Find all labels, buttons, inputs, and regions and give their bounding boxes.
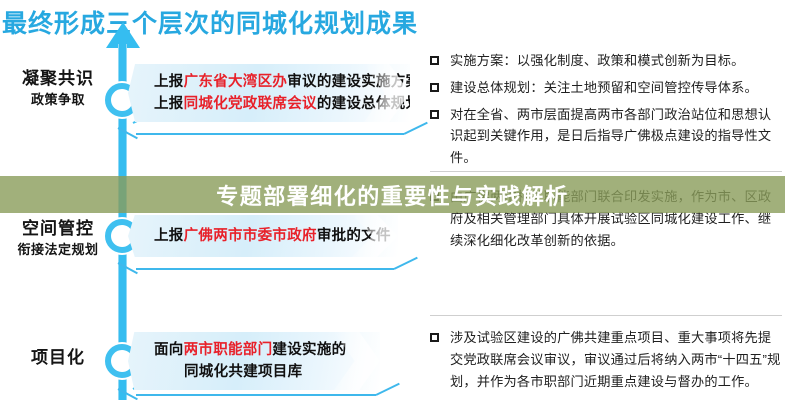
stage-1-bullet-list: 实施方案：以强化制度、政策和模式创新为目标。 建设总体规划：关注土地预留和空间管… xyxy=(430,50,782,174)
callout-underline xyxy=(136,268,394,270)
callout-underline-end xyxy=(404,122,428,135)
list-item: 实施方案：以强化制度、政策和模式创新为目标。 xyxy=(430,50,782,72)
square-bullet-icon xyxy=(430,110,439,119)
list-item: 对在全省、两市层面提高两市各部门政治站位和思想认识起到关键作用，是日后指导广佛极… xyxy=(430,104,782,169)
bullet-text: 对在全省、两市层面提高两市各部门政治站位和思想认识起到关键作用，是日后指导广佛极… xyxy=(450,104,782,169)
stage-2-callout-box: 上报广佛两市市委市政府审批的文件 xyxy=(128,215,398,257)
square-bullet-icon xyxy=(430,83,439,92)
callout-underline xyxy=(136,133,404,135)
stage-label-3: 项目化 xyxy=(6,347,110,370)
stage-1-callout-box: 上报广东省大湾区办审议的建设实施方案 上报同城化党政联席会议的建设总体规划纲要 xyxy=(128,64,410,122)
bullet-text: 实施方案：以强化制度、政策和模式创新为目标。 xyxy=(450,50,745,72)
list-item: 涉及试验区建设的广佛共建重点项目、重大事项将先提交党政联席会议审议，审议通过后将… xyxy=(430,327,782,392)
stage-label-1-secondary: 政策争取 xyxy=(6,91,110,109)
square-bullet-icon xyxy=(430,333,439,342)
stage-label-3-primary: 项目化 xyxy=(6,347,110,370)
stage-3-bullet-list: 涉及试验区建设的广佛共建重点项目、重大事项将先提交党政联席会议审议，审议通过后将… xyxy=(430,327,782,397)
list-item: 建设总体规划：关注土地预留和空间管控传导体系。 xyxy=(430,77,782,99)
overlay-banner-title: 专题部署细化的重要性与实践解析 xyxy=(0,176,785,213)
callout-underline-end xyxy=(394,257,418,270)
stage-label-2-secondary: 衔接法定规划 xyxy=(6,241,110,259)
bullet-text: 涉及试验区建设的广佛共建重点项目、重大事项将先提交党政联席会议审议，审议通过后将… xyxy=(450,327,782,392)
page-title: 最终形成三个层次的同城化规划成果 xyxy=(0,4,420,40)
slide-canvas: 最终形成三个层次的同城化规划成果 凝聚共识 政策争取 空间管控 衔接法定规划 项… xyxy=(0,0,785,400)
stage-label-1: 凝聚共识 政策争取 xyxy=(6,68,110,108)
stage-label-2-primary: 空间管控 xyxy=(6,218,110,241)
callout-underline xyxy=(136,394,376,396)
stage-1-callout-line-1: 上报广东省大湾区办审议的建设实施方案 xyxy=(128,71,410,93)
stage-label-2: 空间管控 衔接法定规划 xyxy=(6,218,110,258)
stage-2-callout-line-1: 上报广佛两市市委市政府审批的文件 xyxy=(128,225,398,247)
square-bullet-icon xyxy=(430,56,439,65)
bullet-text: 建设总体规划：关注土地预留和空间管控传导体系。 xyxy=(450,77,758,99)
stage-label-1-primary: 凝聚共识 xyxy=(6,68,110,91)
stage-3-callout-box: 面向两市职能部门建设实施的 同城化共建项目库 xyxy=(128,332,380,390)
stage-1-callout-line-2: 上报同城化党政联席会议的建设总体规划纲要 xyxy=(128,93,410,115)
section-divider xyxy=(430,315,782,316)
